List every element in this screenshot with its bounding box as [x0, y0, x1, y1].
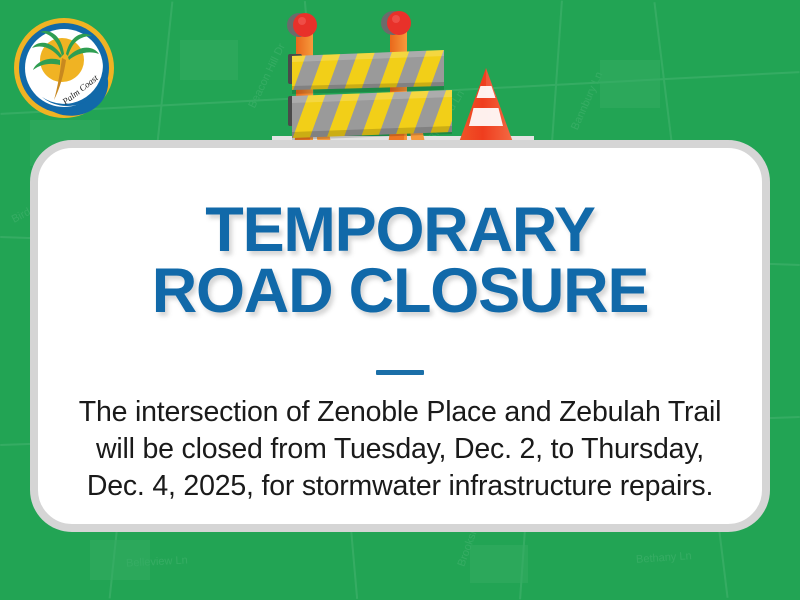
announcement-body: The intersection of Zenoble Place and Ze…	[74, 394, 726, 505]
road-closure-poster: Beacon Mill Ln Bradbury Ln Bradford Ln B…	[0, 0, 800, 600]
announcement-card: TEMPORARY ROAD CLOSURE The intersection …	[30, 140, 770, 532]
page-title: TEMPORARY ROAD CLOSURE	[38, 200, 762, 322]
title-divider	[376, 370, 424, 375]
title-line-1: TEMPORARY	[38, 200, 762, 261]
map-street-label: Belleview Ln	[126, 554, 188, 569]
map-street-label: Bannbury Ln	[569, 70, 605, 132]
palm-coast-logo: Palm Coast	[12, 16, 116, 120]
title-line-2: ROAD CLOSURE	[38, 261, 762, 322]
palm-coast-seal-icon: Palm Coast	[12, 16, 116, 120]
map-street-label: Bethany Ln	[636, 550, 692, 566]
